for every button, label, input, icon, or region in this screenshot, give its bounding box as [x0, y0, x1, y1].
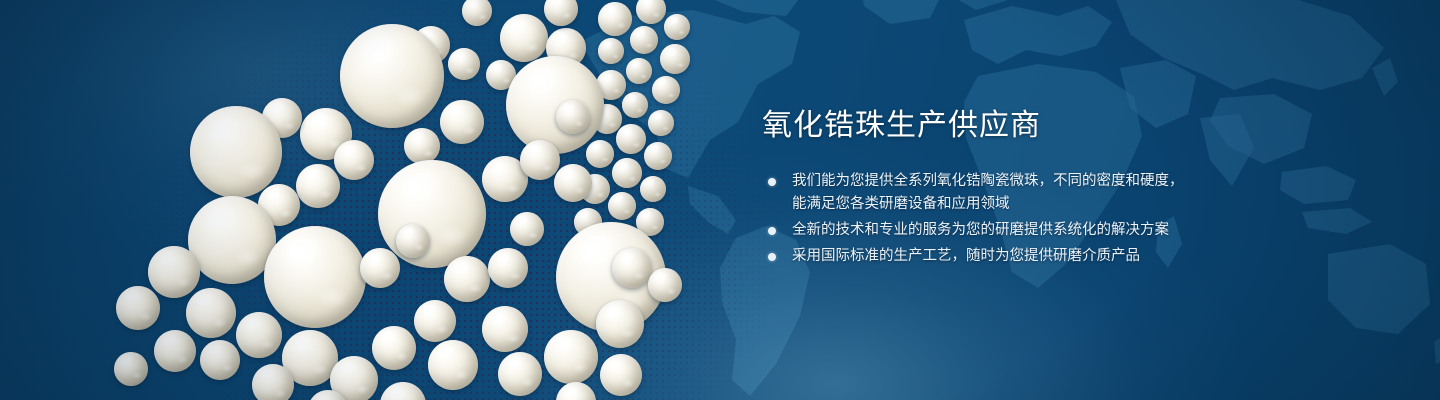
list-item: 采用国际标准的生产工艺，随时为您提供研磨介质产品 — [762, 245, 1362, 268]
bullet-text-line1: 采用国际标准的生产工艺，随时为您提供研磨介质产品 — [792, 248, 1140, 264]
banner-headline: 氧化锆珠生产供应商 — [762, 108, 1362, 144]
banner-content: 氧化锆珠生产供应商 我们能为您提供全系列氧化锆陶瓷微珠，不同的密度和硬度， 能满… — [762, 108, 1362, 271]
bullet-text-line1: 我们能为您提供全系列氧化锆陶瓷微珠，不同的密度和硬度， — [792, 173, 1184, 189]
feature-list: 我们能为您提供全系列氧化锆陶瓷微珠，不同的密度和硬度， 能满足您各类研磨设备和应… — [762, 170, 1362, 268]
bullet-text-line1: 全新的技术和专业的服务为您的研磨提供系统化的解决方案 — [792, 222, 1169, 238]
hero-banner: 氧化锆珠生产供应商 我们能为您提供全系列氧化锆陶瓷微珠，不同的密度和硬度， 能满… — [0, 0, 1440, 400]
bullet-dot-icon — [768, 178, 776, 186]
bullet-dot-icon — [768, 227, 776, 235]
list-item: 全新的技术和专业的服务为您的研磨提供系统化的解决方案 — [762, 219, 1362, 242]
list-item: 我们能为您提供全系列氧化锆陶瓷微珠，不同的密度和硬度， 能满足您各类研磨设备和应… — [762, 170, 1362, 216]
bullet-dot-icon — [768, 253, 776, 261]
bullet-text-line2: 能满足您各类研磨设备和应用领域 — [792, 193, 1362, 216]
